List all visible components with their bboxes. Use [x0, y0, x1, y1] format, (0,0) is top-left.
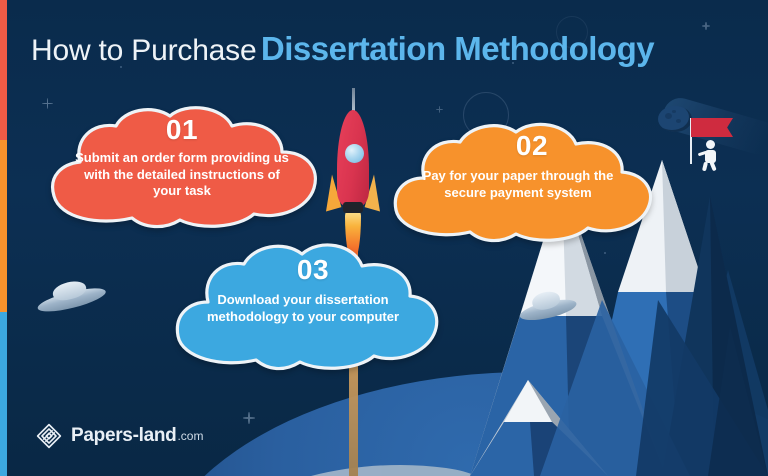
rocket-window [345, 144, 364, 163]
brand-logo[interactable]: Papers-land .com [36, 423, 203, 449]
mountain-foreground-wedges [540, 300, 768, 476]
meteor-head [658, 106, 692, 132]
rocket-engine [343, 202, 363, 213]
nested-diamond-logo-icon [36, 423, 62, 449]
cloud-shape-01 [40, 108, 324, 230]
title-highlight: Dissertation Methodology [261, 30, 654, 67]
edge-segment-blue [0, 312, 7, 476]
cloud-shape-03 [164, 246, 442, 372]
cloud-shape-02 [382, 126, 654, 244]
edge-accent-bar [0, 0, 7, 476]
edge-segment-orange [0, 140, 7, 312]
climber-figure-icon [697, 140, 723, 170]
star-sparkle-icon [436, 106, 443, 113]
title-lead: How to Purchase [31, 34, 256, 67]
star-sparkle-icon [243, 412, 255, 424]
star-sparkle-icon [702, 22, 710, 30]
step-card-02[interactable]: 02 Pay for your paper through the secure… [382, 126, 654, 244]
red-flag-icon [691, 118, 733, 137]
rocket-icon [316, 88, 390, 258]
logo-name: Papers-land [71, 425, 176, 447]
step-card-01[interactable]: 01 Submit an order form providing us wit… [40, 108, 324, 230]
step-card-03[interactable]: 03 Download your dissertation methodolog… [164, 246, 442, 372]
page-title: How to Purchase Dissertation Methodology [31, 30, 654, 68]
edge-segment-red [0, 0, 7, 140]
infographic-canvas: How to Purchase Dissertation Methodology… [0, 0, 768, 476]
logo-tld: .com [177, 429, 203, 443]
